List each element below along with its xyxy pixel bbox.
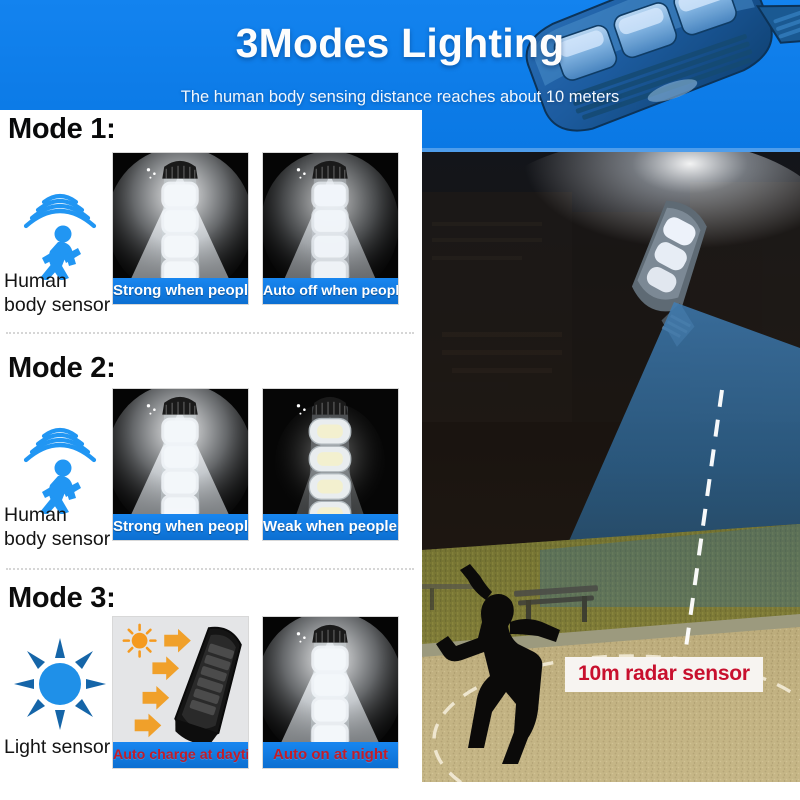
- infographic-page: 3Modes Lighting The human body sensing d…: [0, 0, 800, 800]
- mode-block-2: Mode 2: Human bod: [0, 342, 422, 574]
- sensor-label-2: Human body sensor: [4, 504, 122, 552]
- section-divider-1: [6, 332, 414, 334]
- mode-block-1: Mode 1:: [0, 110, 422, 340]
- motion-wave-walking-person-icon: [14, 162, 106, 280]
- mode1-card-1: Strong when people comes: [112, 152, 249, 305]
- mode2-card1-caption: Strong when people comes: [113, 514, 248, 540]
- sensor-label-1: Human body sensor: [4, 270, 122, 318]
- mode-heading-1: Mode 1:: [8, 113, 115, 146]
- sun-icon: [14, 634, 106, 734]
- mode3-card1-caption: Auto charge at daytime: [113, 742, 248, 768]
- mode-heading-3: Mode 3:: [8, 582, 115, 615]
- mode3-card2-caption: Auto on at night: [263, 742, 398, 768]
- mode-heading-2: Mode 2:: [8, 352, 115, 385]
- mode3-card-1: Auto charge at daytime: [112, 616, 249, 769]
- sensor-label-text-2: Human body sensor: [4, 504, 110, 550]
- page-title: 3Modes Lighting: [0, 20, 800, 67]
- mode2-card2-caption: Weak when people leaves: [263, 514, 398, 540]
- mode3-card-2: Auto on at night: [262, 616, 399, 769]
- sun-icon: [124, 625, 156, 657]
- mode1-card1-caption: Strong when people comes: [113, 278, 248, 304]
- mode2-card-1: Strong when people comes: [112, 388, 249, 541]
- mode1-card-2: Auto off when people leaves: [262, 152, 399, 305]
- mode2-card-2: Weak when people leaves: [262, 388, 399, 541]
- mode1-card2-caption: Auto off when people leaves: [263, 278, 398, 304]
- page-subtitle: The human body sensing distance reaches …: [0, 88, 800, 107]
- modes-column: Mode 1:: [0, 110, 422, 800]
- section-divider-2: [6, 568, 414, 570]
- sensor-label-text-3: Light sensor: [4, 736, 110, 758]
- panel-bottom-spacer: [422, 782, 800, 800]
- sensor-label-text-1: Human body sensor: [4, 270, 110, 316]
- mode-block-3: Mode 3: Light s: [0, 576, 422, 800]
- motion-wave-walking-person-icon: [14, 396, 106, 514]
- radar-range-badge: 10m radar sensor: [565, 657, 763, 692]
